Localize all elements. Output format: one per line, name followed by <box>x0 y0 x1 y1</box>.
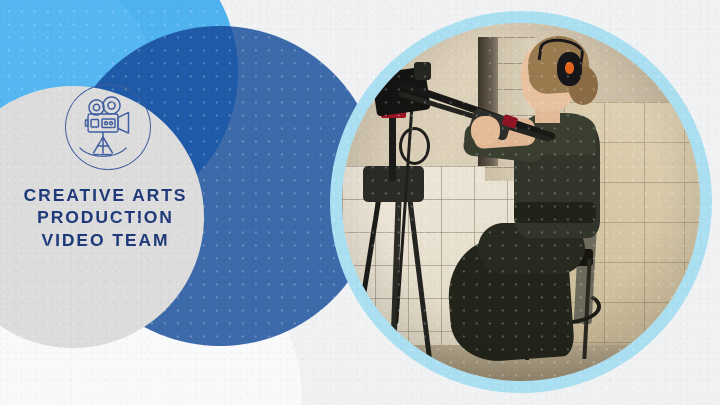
brand-title-line-2: PRODUCTION <box>24 206 188 228</box>
scene-camera-nub <box>414 62 432 80</box>
vintage-movie-camera-icon <box>65 84 151 170</box>
scene-person-belt <box>514 202 596 223</box>
brand-title-line-1: CREATIVE ARTS <box>24 184 188 206</box>
slide-canvas: CREATIVE ARTS PRODUCTION VIDEO TEAM <box>0 0 720 405</box>
page-title: CREATIVE ARTS PRODUCTION VIDEO TEAM <box>24 184 188 251</box>
photo-circle-boom-operator <box>342 23 700 381</box>
photo-scene <box>342 23 700 381</box>
brand-title-line-3: VIDEO TEAM <box>24 229 188 251</box>
scene-person-hand <box>471 116 500 145</box>
photo-ring <box>330 11 712 393</box>
brand-lockup: CREATIVE ARTS PRODUCTION VIDEO TEAM <box>0 84 205 251</box>
scene-tripod-column <box>389 109 396 181</box>
